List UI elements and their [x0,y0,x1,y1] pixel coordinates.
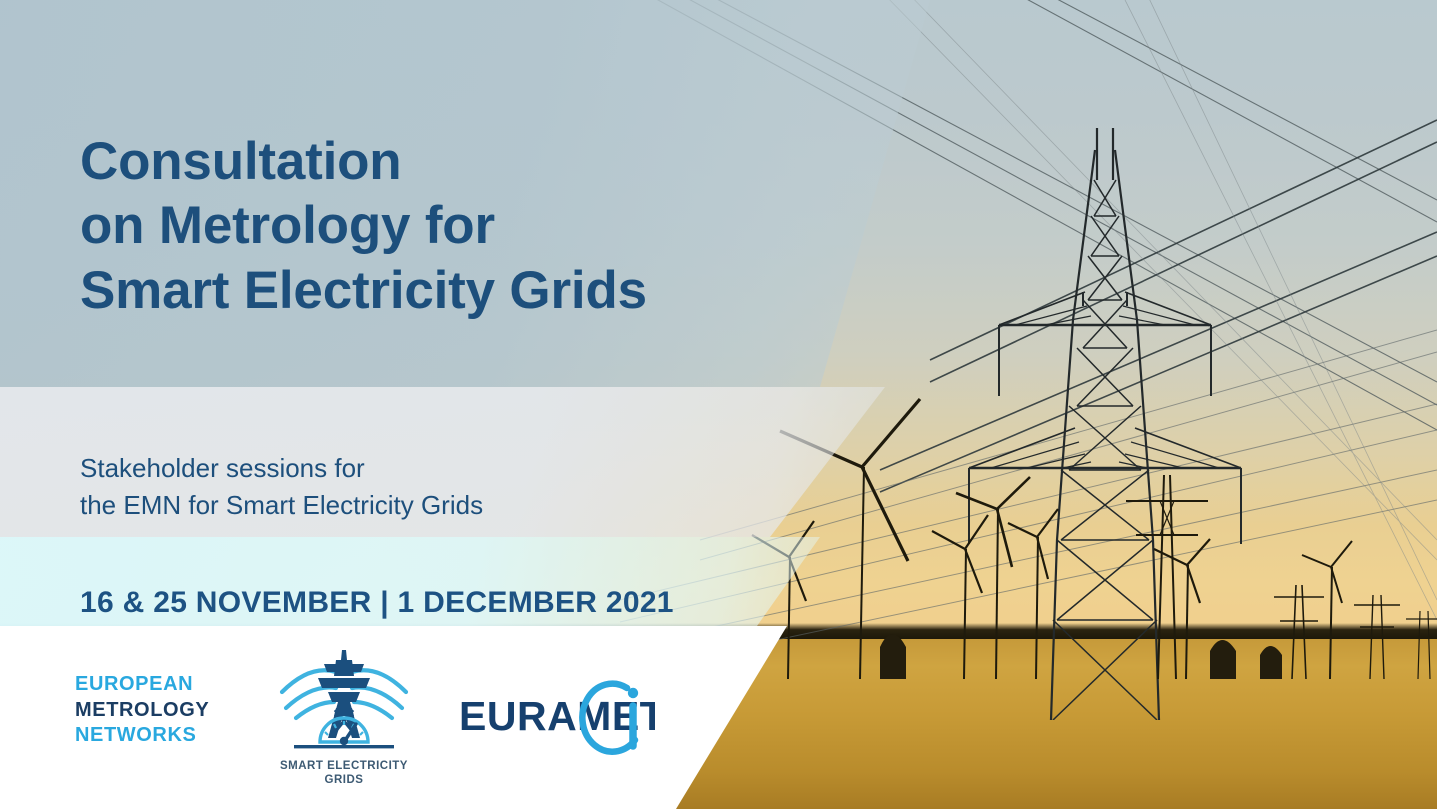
event-dates: 16 & 25 NOVEMBER | 1 DECEMBER 2021 [80,586,674,620]
seg-caption-line-2: GRIDS [325,774,364,786]
poster: Consultation on Metrology for Smart Elec… [0,0,1437,809]
page-subtitle: Stakeholder sessions for the EMN for Sma… [80,450,483,524]
page-title: Consultation on Metrology for Smart Elec… [80,130,647,324]
euramet-logo: EURAMET [455,674,655,760]
logo-row: EUROPEAN METROLOGY NETWORKS [0,626,800,809]
euramet-ring-icon: EURAMET [455,674,655,760]
smart-electricity-grids-logo: SMART ELECTRICITY GRIDS [268,646,420,796]
emn-logo-line-european: EUROPEAN [75,672,209,698]
euramet-wordmark: EURAMET [459,693,655,739]
emn-logo: EUROPEAN METROLOGY NETWORKS [75,672,209,749]
emn-logo-line-networks: NETWORKS [75,723,209,749]
emn-logo-line-metrology: METROLOGY [75,698,209,724]
pylon-gauge-icon [268,646,420,756]
smart-electricity-grids-caption: SMART ELECTRICITY GRIDS [268,759,420,788]
seg-caption-line-1: SMART ELECTRICITY [280,760,408,772]
